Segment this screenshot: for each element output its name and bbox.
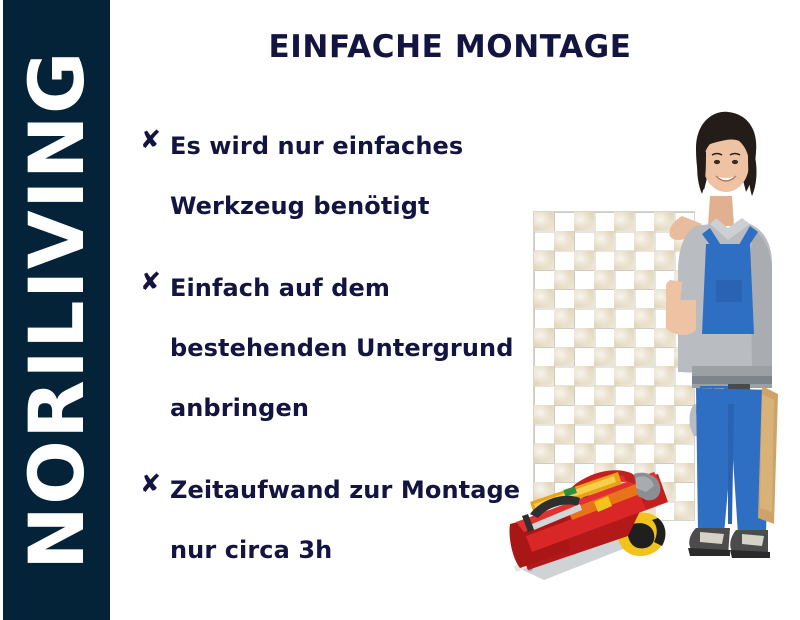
wall-tile — [614, 212, 634, 231]
wall-tile — [594, 231, 614, 250]
wall-tile — [594, 347, 614, 366]
list-item-line: Einfach auf dem — [170, 274, 390, 302]
wall-tile — [614, 405, 634, 424]
wall-tile — [614, 328, 634, 347]
wall-tile — [634, 328, 654, 347]
wall-tile — [614, 386, 634, 405]
wall-tile — [634, 405, 654, 424]
wall-tile — [574, 347, 594, 366]
wall-tile — [634, 231, 654, 250]
wall-tile — [534, 328, 554, 347]
wall-tile — [634, 270, 654, 289]
wall-tile — [534, 366, 554, 385]
wall-tile — [594, 212, 614, 231]
cross-mark-icon: ✘ — [140, 116, 161, 164]
wall-tile — [574, 308, 594, 327]
wall-tile — [534, 231, 554, 250]
cross-mark-icon: ✘ — [140, 460, 161, 508]
wall-tile — [634, 251, 654, 270]
list-item: ✘ Zeitaufwand zur Montage nur circa 3h — [140, 460, 550, 580]
wall-tile — [614, 289, 634, 308]
wall-tile — [634, 366, 654, 385]
poster-canvas: NORILIVING EINFACHE MONTAGE ✘ Es wird nu… — [0, 0, 800, 620]
list-item: ✘ Einfach auf dem bestehenden Untergrund… — [140, 258, 550, 438]
list-item-text: Es wird nur einfaches Werkzeug benötigt — [170, 116, 550, 236]
wall-tile — [594, 308, 614, 327]
wall-tile — [594, 366, 614, 385]
wall-tile — [634, 212, 654, 231]
wall-tile — [554, 212, 574, 231]
list-item-text: Einfach auf dem bestehenden Untergrund a… — [170, 258, 550, 438]
list-item-line: bestehenden Untergrund — [170, 334, 514, 362]
cross-mark-icon: ✘ — [140, 258, 161, 306]
wall-tile — [574, 270, 594, 289]
page-title: EINFACHE MONTAGE — [130, 28, 770, 67]
wall-tile — [614, 347, 634, 366]
list-item: ✘ Es wird nur einfaches Werkzeug benötig… — [140, 116, 550, 236]
wall-tile — [534, 308, 554, 327]
list-item-line: Werkzeug benötigt — [170, 192, 430, 220]
toolbox-with-tools — [508, 440, 708, 590]
wall-tile — [574, 328, 594, 347]
list-item-line: anbringen — [170, 394, 309, 422]
wall-tile — [634, 308, 654, 327]
wall-tile — [594, 386, 614, 405]
wall-tile — [534, 212, 554, 231]
wall-tile — [554, 347, 574, 366]
wall-tile — [554, 231, 574, 250]
wall-tile — [634, 386, 654, 405]
wall-tile — [614, 366, 634, 385]
wall-tile — [574, 231, 594, 250]
wall-tile — [554, 328, 574, 347]
wall-tile — [574, 366, 594, 385]
list-item-text: Zeitaufwand zur Montage nur circa 3h — [170, 460, 550, 580]
wall-tile — [614, 231, 634, 250]
wall-tile — [594, 289, 614, 308]
wall-tile — [554, 270, 574, 289]
wall-tile — [614, 308, 634, 327]
wall-tile — [574, 405, 594, 424]
wall-tile — [534, 251, 554, 270]
wall-tile — [534, 347, 554, 366]
list-item-line: Zeitaufwand zur Montage — [170, 476, 520, 504]
benefits-list: ✘ Es wird nur einfaches Werkzeug benötig… — [140, 116, 550, 602]
wall-tile — [574, 212, 594, 231]
wall-tile — [614, 251, 634, 270]
wall-tile — [574, 289, 594, 308]
wall-tile — [594, 405, 614, 424]
wall-tile — [594, 328, 614, 347]
wall-tile — [554, 289, 574, 308]
wall-tile — [634, 289, 654, 308]
wall-tile — [554, 405, 574, 424]
brand-name: NORILIVING — [19, 50, 95, 570]
wall-tile — [594, 270, 614, 289]
list-item-line: Es wird nur einfaches — [170, 132, 463, 160]
wall-tile — [574, 386, 594, 405]
wall-tile — [594, 251, 614, 270]
wall-tile — [534, 386, 554, 405]
wall-tile — [534, 270, 554, 289]
wall-tile — [534, 289, 554, 308]
wall-tile — [534, 405, 554, 424]
wall-tile — [614, 270, 634, 289]
list-item-line: nur circa 3h — [170, 536, 332, 564]
wall-tile — [554, 366, 574, 385]
brand-sidebar: NORILIVING — [3, 0, 110, 620]
wall-tile — [554, 251, 574, 270]
wall-tile — [634, 347, 654, 366]
wall-tile — [554, 308, 574, 327]
wall-tile — [574, 251, 594, 270]
wall-tile — [554, 386, 574, 405]
